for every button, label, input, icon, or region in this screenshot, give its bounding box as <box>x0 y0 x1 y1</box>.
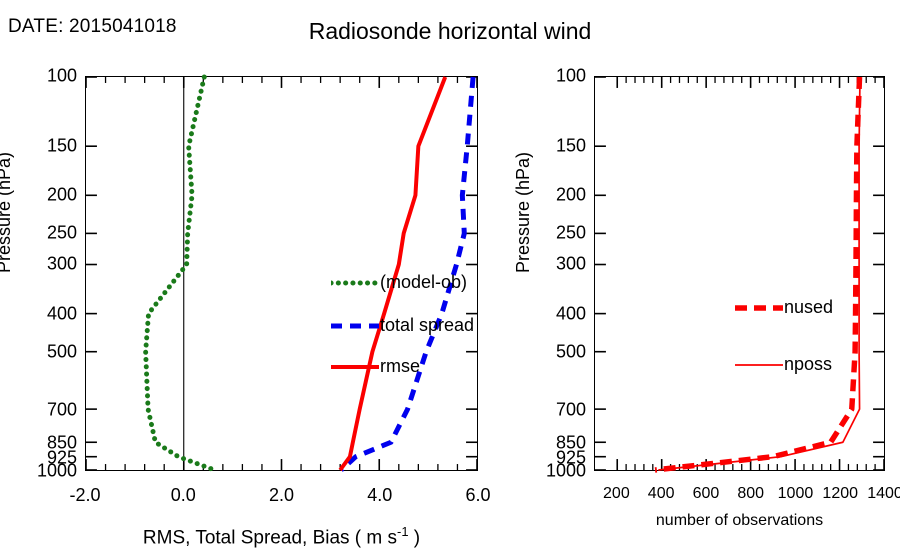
y-tick-label: 200 <box>7 184 77 205</box>
y-tick-label: 300 <box>516 254 586 275</box>
y-tick-label: 1000 <box>516 461 586 482</box>
x-tick-label: 6.0 <box>465 485 490 506</box>
right-x-axis-title: number of observations <box>594 512 885 530</box>
legend-label: total spread <box>380 315 474 336</box>
y-tick-label: 100 <box>7 66 77 87</box>
legend-entry: nposs <box>735 354 832 375</box>
series-line-nused <box>655 77 860 470</box>
x-tick-label: 200 <box>603 485 630 503</box>
x-tick-label: 2.0 <box>269 485 294 506</box>
x-tick-label: 4.0 <box>367 485 392 506</box>
y-tick-label: 500 <box>7 342 77 363</box>
x-tick-label: 600 <box>693 485 720 503</box>
y-tick-label: 500 <box>516 342 586 363</box>
page-title: Radiosonde horizontal wind <box>0 18 900 45</box>
legend-label: (model-ob) <box>380 272 467 293</box>
legend-entry: total spread <box>331 315 474 336</box>
y-tick-label: 250 <box>7 223 77 244</box>
legend-entry: (model-ob) <box>331 272 467 293</box>
x-tick-label: 1000 <box>778 485 814 503</box>
legend-label: nused <box>784 297 833 318</box>
exponent: -1 <box>397 524 408 539</box>
y-tick-label: 700 <box>7 399 77 420</box>
y-tick-label: 150 <box>7 135 77 156</box>
series-line-nposs <box>658 77 860 470</box>
right-plot-canvas <box>595 77 884 470</box>
series-line--model-ob- <box>146 77 215 470</box>
legend-swatch-nused <box>735 300 783 316</box>
legend-entry: rmse <box>331 356 420 377</box>
y-tick-label: 300 <box>7 254 77 275</box>
x-tick-label: 400 <box>648 485 675 503</box>
x-tick-label: 800 <box>737 485 764 503</box>
y-tick-label: 200 <box>516 184 586 205</box>
y-tick-label: 100 <box>516 66 586 87</box>
y-tick-label: 400 <box>516 303 586 324</box>
legend-label: rmse <box>380 356 420 377</box>
left-x-axis-title: RMS, Total Spread, Bias ( m s-1 ) <box>85 524 478 549</box>
legend-entry: nused <box>735 297 833 318</box>
y-tick-label: 400 <box>7 303 77 324</box>
x-tick-label: -2.0 <box>69 485 100 506</box>
right-plot-panel <box>594 76 885 471</box>
x-tick-label: 1200 <box>822 485 858 503</box>
y-tick-label: 250 <box>516 223 586 244</box>
y-tick-label: 700 <box>516 399 586 420</box>
y-tick-label: 150 <box>516 135 586 156</box>
x-tick-label: 0.0 <box>171 485 196 506</box>
legend-label: nposs <box>784 354 832 375</box>
legend-swatch-total-spread <box>331 318 379 334</box>
y-tick-label: 1000 <box>7 461 77 482</box>
legend-swatch-rmse <box>331 359 379 375</box>
legend-swatch-nposs <box>735 357 783 373</box>
legend-swatch--model-ob- <box>331 275 379 291</box>
x-tick-label: 1400 <box>867 485 900 503</box>
